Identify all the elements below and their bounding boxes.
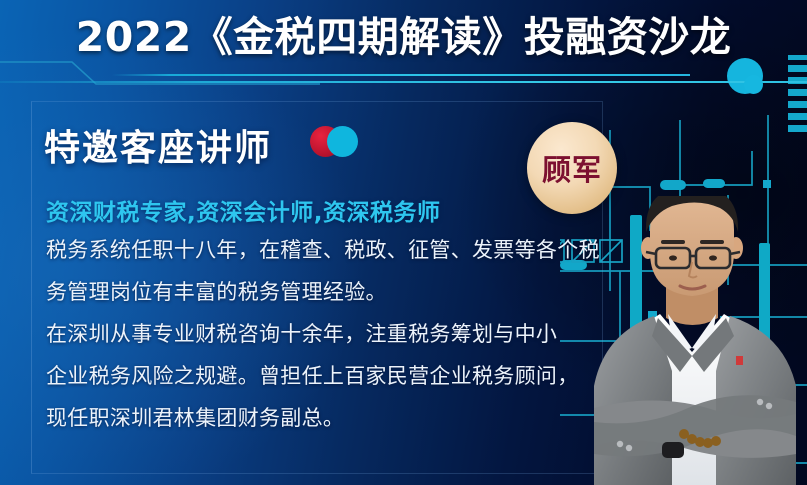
bio-line: 企业税务风险之规避。曾担任上百家民营企业税务顾问，	[46, 356, 582, 396]
section-heading: 特邀客座讲师	[44, 119, 272, 171]
poster-title: 2022《金税四期解读》投融资沙龙	[0, 14, 807, 61]
event-poster: 2022《金税四期解读》投融资沙龙 特邀客座讲师 资深财税专家,资深会计师,资深…	[0, 0, 807, 485]
speaker-credentials: 资深财税专家,资深会计师,资深税务师	[46, 193, 440, 227]
title-underline-primary	[112, 74, 690, 76]
bio-line: 务管理岗位有丰富的税务管理经验。	[46, 272, 582, 312]
cyan-dot-icon	[327, 126, 358, 157]
cyan-circle-node-icon	[744, 75, 763, 94]
bio-line: 税务系统任职十八年，在稽查、税政、征管、发票等各个税	[46, 230, 582, 270]
bio-line: 现任职深圳君林集团财务副总。	[46, 398, 582, 438]
speaker-bio: 税务系统任职十八年，在稽查、税政、征管、发票等各个税 务管理岗位有丰富的税务管理…	[46, 230, 582, 440]
bio-line: 在深圳从事专业财税咨询十余年，注重税务筹划与中小	[46, 314, 582, 354]
speaker-photo	[588, 196, 807, 485]
title-underline-secondary	[0, 81, 807, 83]
